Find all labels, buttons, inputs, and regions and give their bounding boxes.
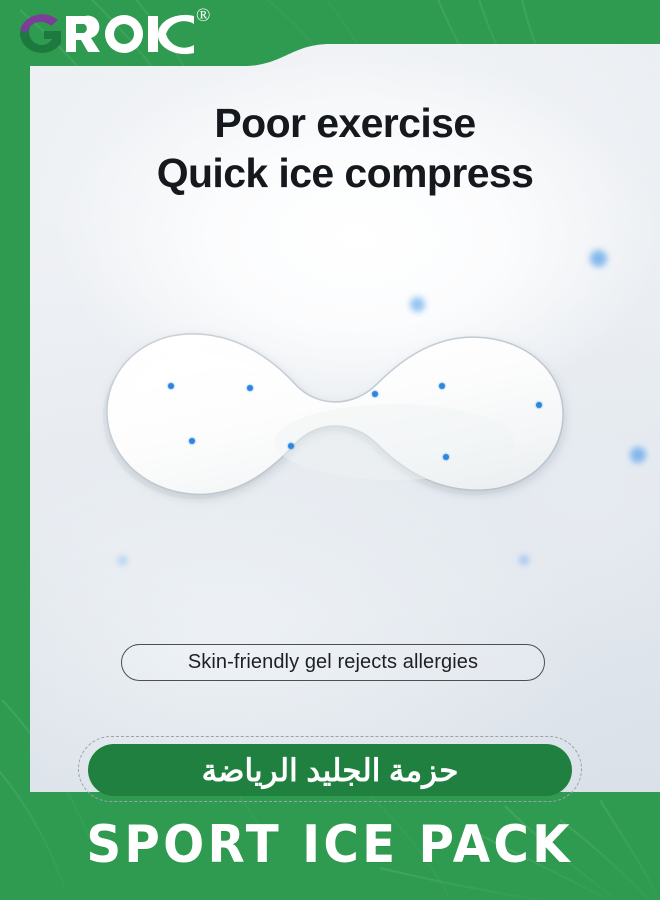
gel-dot — [247, 385, 253, 391]
gel-dot — [536, 402, 542, 408]
footer-banner: SPORT ICE PACK — [0, 790, 660, 900]
gel-dot — [372, 391, 378, 397]
registered-trademark-icon: ® — [196, 6, 210, 25]
arabic-banner: حزمة الجليد الرياضة — [88, 744, 572, 796]
page-title: Poor exercise Quick ice compress — [30, 98, 660, 198]
feature-caption-pill: Skin-friendly gel rejects allergies — [121, 644, 545, 681]
gel-dot — [168, 383, 174, 389]
brand-header: ® — [0, 0, 660, 70]
brand-logo — [14, 6, 199, 58]
gel-pad-shape — [95, 322, 575, 537]
gel-dot — [439, 383, 445, 389]
gel-dot — [443, 454, 449, 460]
feature-caption-text: Skin-friendly gel rejects allergies — [188, 651, 478, 674]
groic-logo-svg — [14, 6, 199, 58]
product-poster: ® Poor exercise Quick ice compress — [0, 0, 660, 900]
headline-line-1: Poor exercise — [30, 98, 660, 148]
gel-pad-product-image — [95, 322, 575, 537]
gel-dot — [288, 443, 294, 449]
gel-dot — [189, 438, 195, 444]
footer-title: SPORT ICE PACK — [87, 815, 574, 875]
logo-g-accent — [20, 14, 58, 33]
headline-line-2: Quick ice compress — [30, 148, 660, 198]
arabic-banner-text: حزمة الجليد الرياضة — [202, 755, 459, 786]
